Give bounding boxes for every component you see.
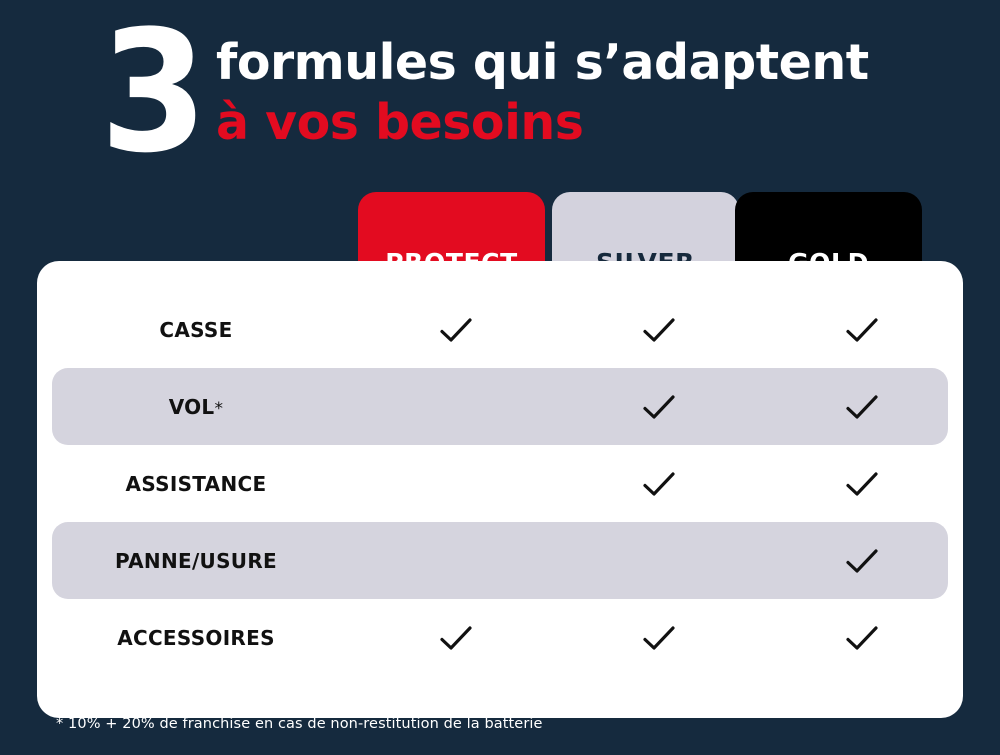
feature-row: PANNE/USURE xyxy=(37,522,963,599)
coverage-cell-silver xyxy=(558,599,761,676)
headline-line-2: à vos besoins xyxy=(216,93,869,153)
feature-row: CASSE xyxy=(37,291,963,368)
coverage-cell-silver xyxy=(558,291,761,368)
check-icon xyxy=(843,392,881,422)
headline-number: 3 xyxy=(100,8,202,176)
coverage-cell-silver xyxy=(558,445,761,522)
feature-row-label: ASSISTANCE xyxy=(37,472,355,496)
check-icon xyxy=(640,623,678,653)
feature-row: VOL* xyxy=(37,368,963,445)
coverage-cell-protect xyxy=(355,445,558,522)
feature-row: ACCESSOIRES xyxy=(37,599,963,676)
feature-row-cells xyxy=(355,522,963,599)
check-icon xyxy=(843,623,881,653)
coverage-cell-silver xyxy=(558,368,761,445)
headline-line-1: formules qui s’adaptent xyxy=(216,33,869,93)
coverage-cell-gold xyxy=(760,368,963,445)
feature-row-cells xyxy=(355,368,963,445)
feature-rows: CASSEVOL*ASSISTANCEPANNE/USUREACCESSOIRE… xyxy=(37,291,963,676)
feature-row-cells xyxy=(355,599,963,676)
check-icon xyxy=(843,546,881,576)
feature-row-label: ACCESSOIRES xyxy=(37,626,355,650)
coverage-cell-protect xyxy=(355,599,558,676)
check-icon xyxy=(640,315,678,345)
feature-row-label: PANNE/USURE xyxy=(37,549,355,573)
coverage-cell-protect xyxy=(355,368,558,445)
coverage-cell-gold xyxy=(760,445,963,522)
check-icon xyxy=(640,469,678,499)
feature-row-label: CASSE xyxy=(37,318,355,342)
feature-row-cells xyxy=(355,291,963,368)
comparison-card: CASSEVOL*ASSISTANCEPANNE/USUREACCESSOIRE… xyxy=(37,261,963,718)
coverage-cell-gold xyxy=(760,599,963,676)
coverage-cell-protect xyxy=(355,522,558,599)
headline-text: formules qui s’adaptent à vos besoins xyxy=(216,33,869,153)
check-icon xyxy=(843,469,881,499)
check-icon xyxy=(843,315,881,345)
footnote: * 10% + 20% de franchise en cas de non-r… xyxy=(56,716,543,732)
check-icon xyxy=(640,392,678,422)
headline-block: 3 formules qui s’adaptent à vos besoins xyxy=(0,0,1000,185)
check-icon xyxy=(437,315,475,345)
coverage-cell-silver xyxy=(558,522,761,599)
check-icon xyxy=(437,623,475,653)
feature-row-label: VOL* xyxy=(37,395,355,419)
coverage-cell-gold xyxy=(760,522,963,599)
feature-row-cells xyxy=(355,445,963,522)
footnote-marker: * xyxy=(214,399,223,419)
coverage-cell-gold xyxy=(760,291,963,368)
feature-row: ASSISTANCE xyxy=(37,445,963,522)
coverage-cell-protect xyxy=(355,291,558,368)
